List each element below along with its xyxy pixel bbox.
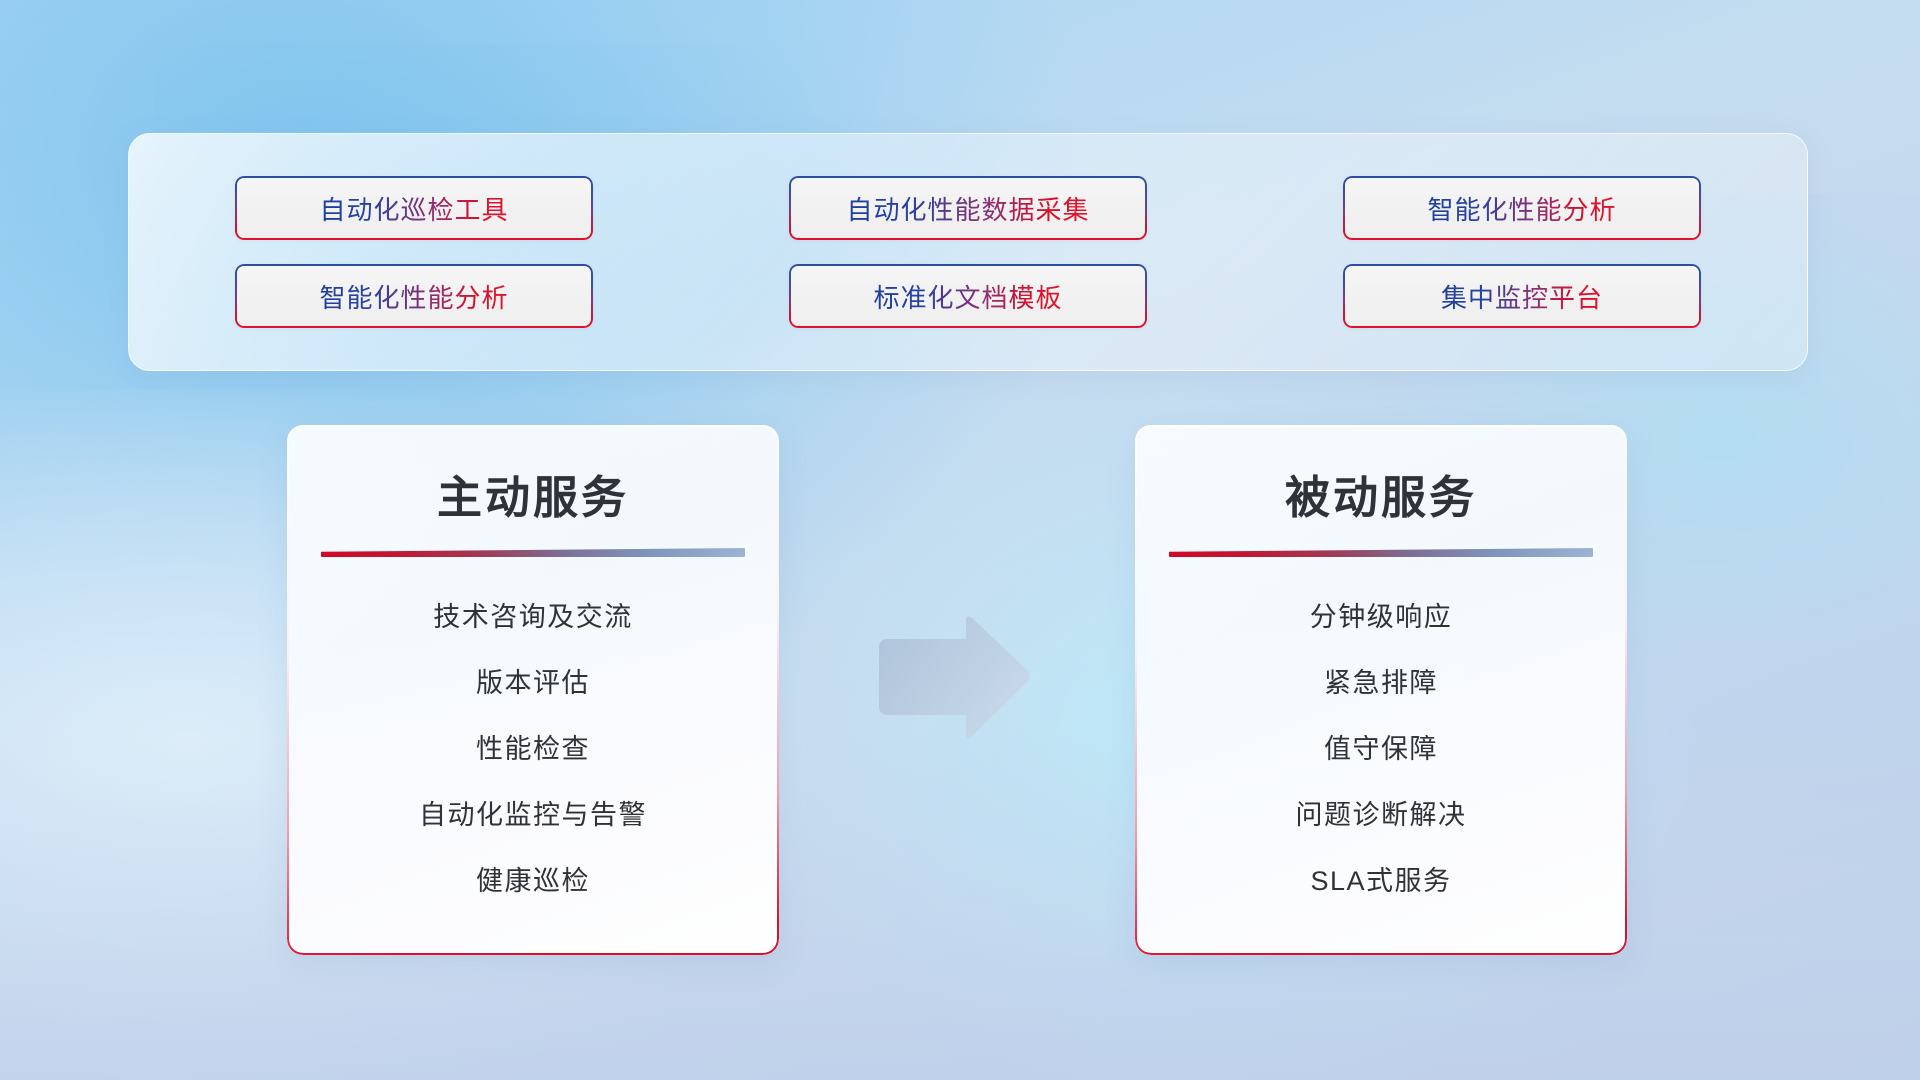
capability-pill-label: 自动化巡检工具 <box>319 190 508 227</box>
flow-arrow-right-icon <box>873 614 1033 742</box>
service-card-reactive: 被动服务 分钟级响应 紧急排障 值守保障 问题诊断解决 SLA式服务 <box>1135 425 1627 955</box>
capability-pill-label: 智能化性能分析 <box>1427 190 1616 227</box>
capability-pill-intelligent-performance-analysis-2[interactable]: 智能化性能分析 <box>235 264 593 328</box>
service-list-item: 技术咨询及交流 <box>433 595 633 634</box>
capability-pill-automated-performance-data-collection[interactable]: 自动化性能数据采集 <box>789 176 1147 240</box>
service-list-item: 紧急排障 <box>1324 661 1438 700</box>
service-list-item: SLA式服务 <box>1310 859 1451 898</box>
service-card-item-list: 技术咨询及交流 版本评估 性能检查 自动化监控与告警 健康巡检 <box>287 595 779 898</box>
service-card-title: 主动服务 <box>287 461 779 526</box>
capability-row-2: 智能化性能分析 标准化文档模板 集中监控平台 <box>235 264 1701 328</box>
service-list-item: 问题诊断解决 <box>1296 793 1467 832</box>
service-card-divider <box>1169 548 1593 557</box>
service-list-item: 分钟级响应 <box>1310 595 1453 634</box>
capability-pill-standardized-document-template[interactable]: 标准化文档模板 <box>789 264 1147 328</box>
capability-panel: 自动化巡检工具 自动化性能数据采集 智能化性能分析 智能化性能分析 标准化文档模… <box>128 133 1808 371</box>
service-list-item: 性能检查 <box>476 727 590 766</box>
capability-pill-centralized-monitoring-platform[interactable]: 集中监控平台 <box>1343 264 1701 328</box>
service-list-item: 健康巡检 <box>476 859 590 898</box>
service-card-divider <box>321 548 745 557</box>
service-card-proactive: 主动服务 技术咨询及交流 版本评估 性能检查 自动化监控与告警 健康巡检 <box>287 425 779 955</box>
divider-gradient-bar <box>1169 548 1593 557</box>
capability-pill-automated-inspection-tool[interactable]: 自动化巡检工具 <box>235 176 593 240</box>
service-list-item: 值守保障 <box>1324 727 1438 766</box>
capability-pill-label: 自动化性能数据采集 <box>846 190 1089 227</box>
service-list-item: 自动化监控与告警 <box>419 793 647 832</box>
capability-pill-label: 集中监控平台 <box>1441 278 1603 315</box>
capability-pill-label: 智能化性能分析 <box>319 278 508 315</box>
service-card-title: 被动服务 <box>1135 461 1627 526</box>
capability-pill-label: 标准化文档模板 <box>873 278 1062 315</box>
capability-pill-intelligent-performance-analysis[interactable]: 智能化性能分析 <box>1343 176 1701 240</box>
capability-row-1: 自动化巡检工具 自动化性能数据采集 智能化性能分析 <box>235 176 1701 240</box>
service-list-item: 版本评估 <box>476 661 590 700</box>
divider-gradient-bar <box>321 548 745 557</box>
service-card-item-list: 分钟级响应 紧急排障 值守保障 问题诊断解决 SLA式服务 <box>1135 595 1627 898</box>
